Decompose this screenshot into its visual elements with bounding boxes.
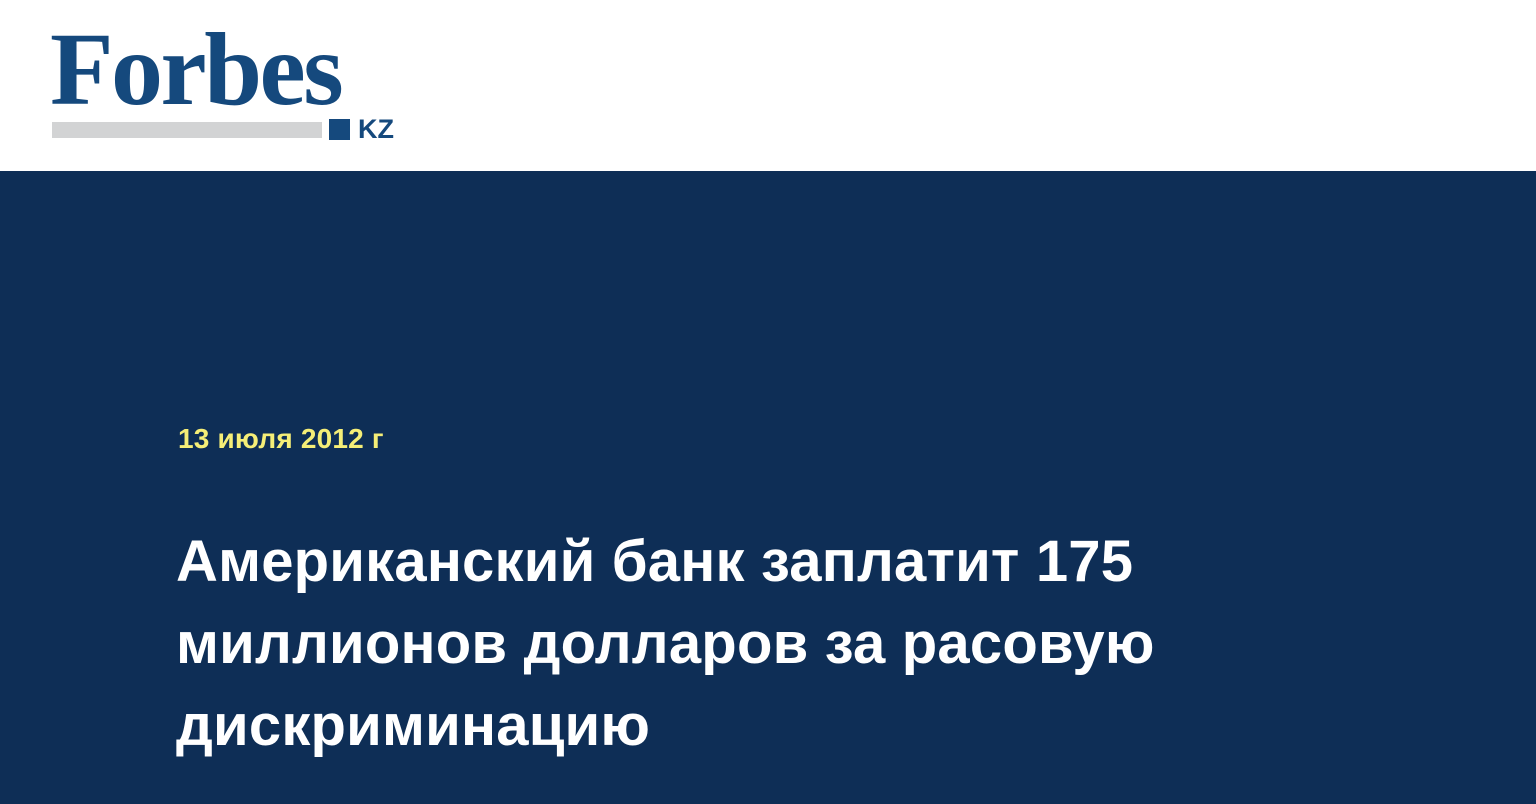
article-hero: 13 июля 2012 г Американский банк заплати… xyxy=(0,171,1536,804)
article-publish-date: 13 июля 2012 г xyxy=(178,423,384,455)
article-headline: Американский банк заплатит 175 миллионов… xyxy=(176,521,1396,767)
article-hero-page: Forbes kz 13 июля 2012 г Американский ба… xyxy=(0,0,1536,804)
brand-country-code: kz xyxy=(358,116,394,143)
brand-square-icon xyxy=(329,119,350,140)
forbes-kz-logo[interactable]: Forbes kz xyxy=(50,18,420,148)
site-header: Forbes kz xyxy=(0,0,1536,171)
brand-wordmark-text: Forbes xyxy=(50,18,341,122)
brand-underbar xyxy=(52,122,322,138)
